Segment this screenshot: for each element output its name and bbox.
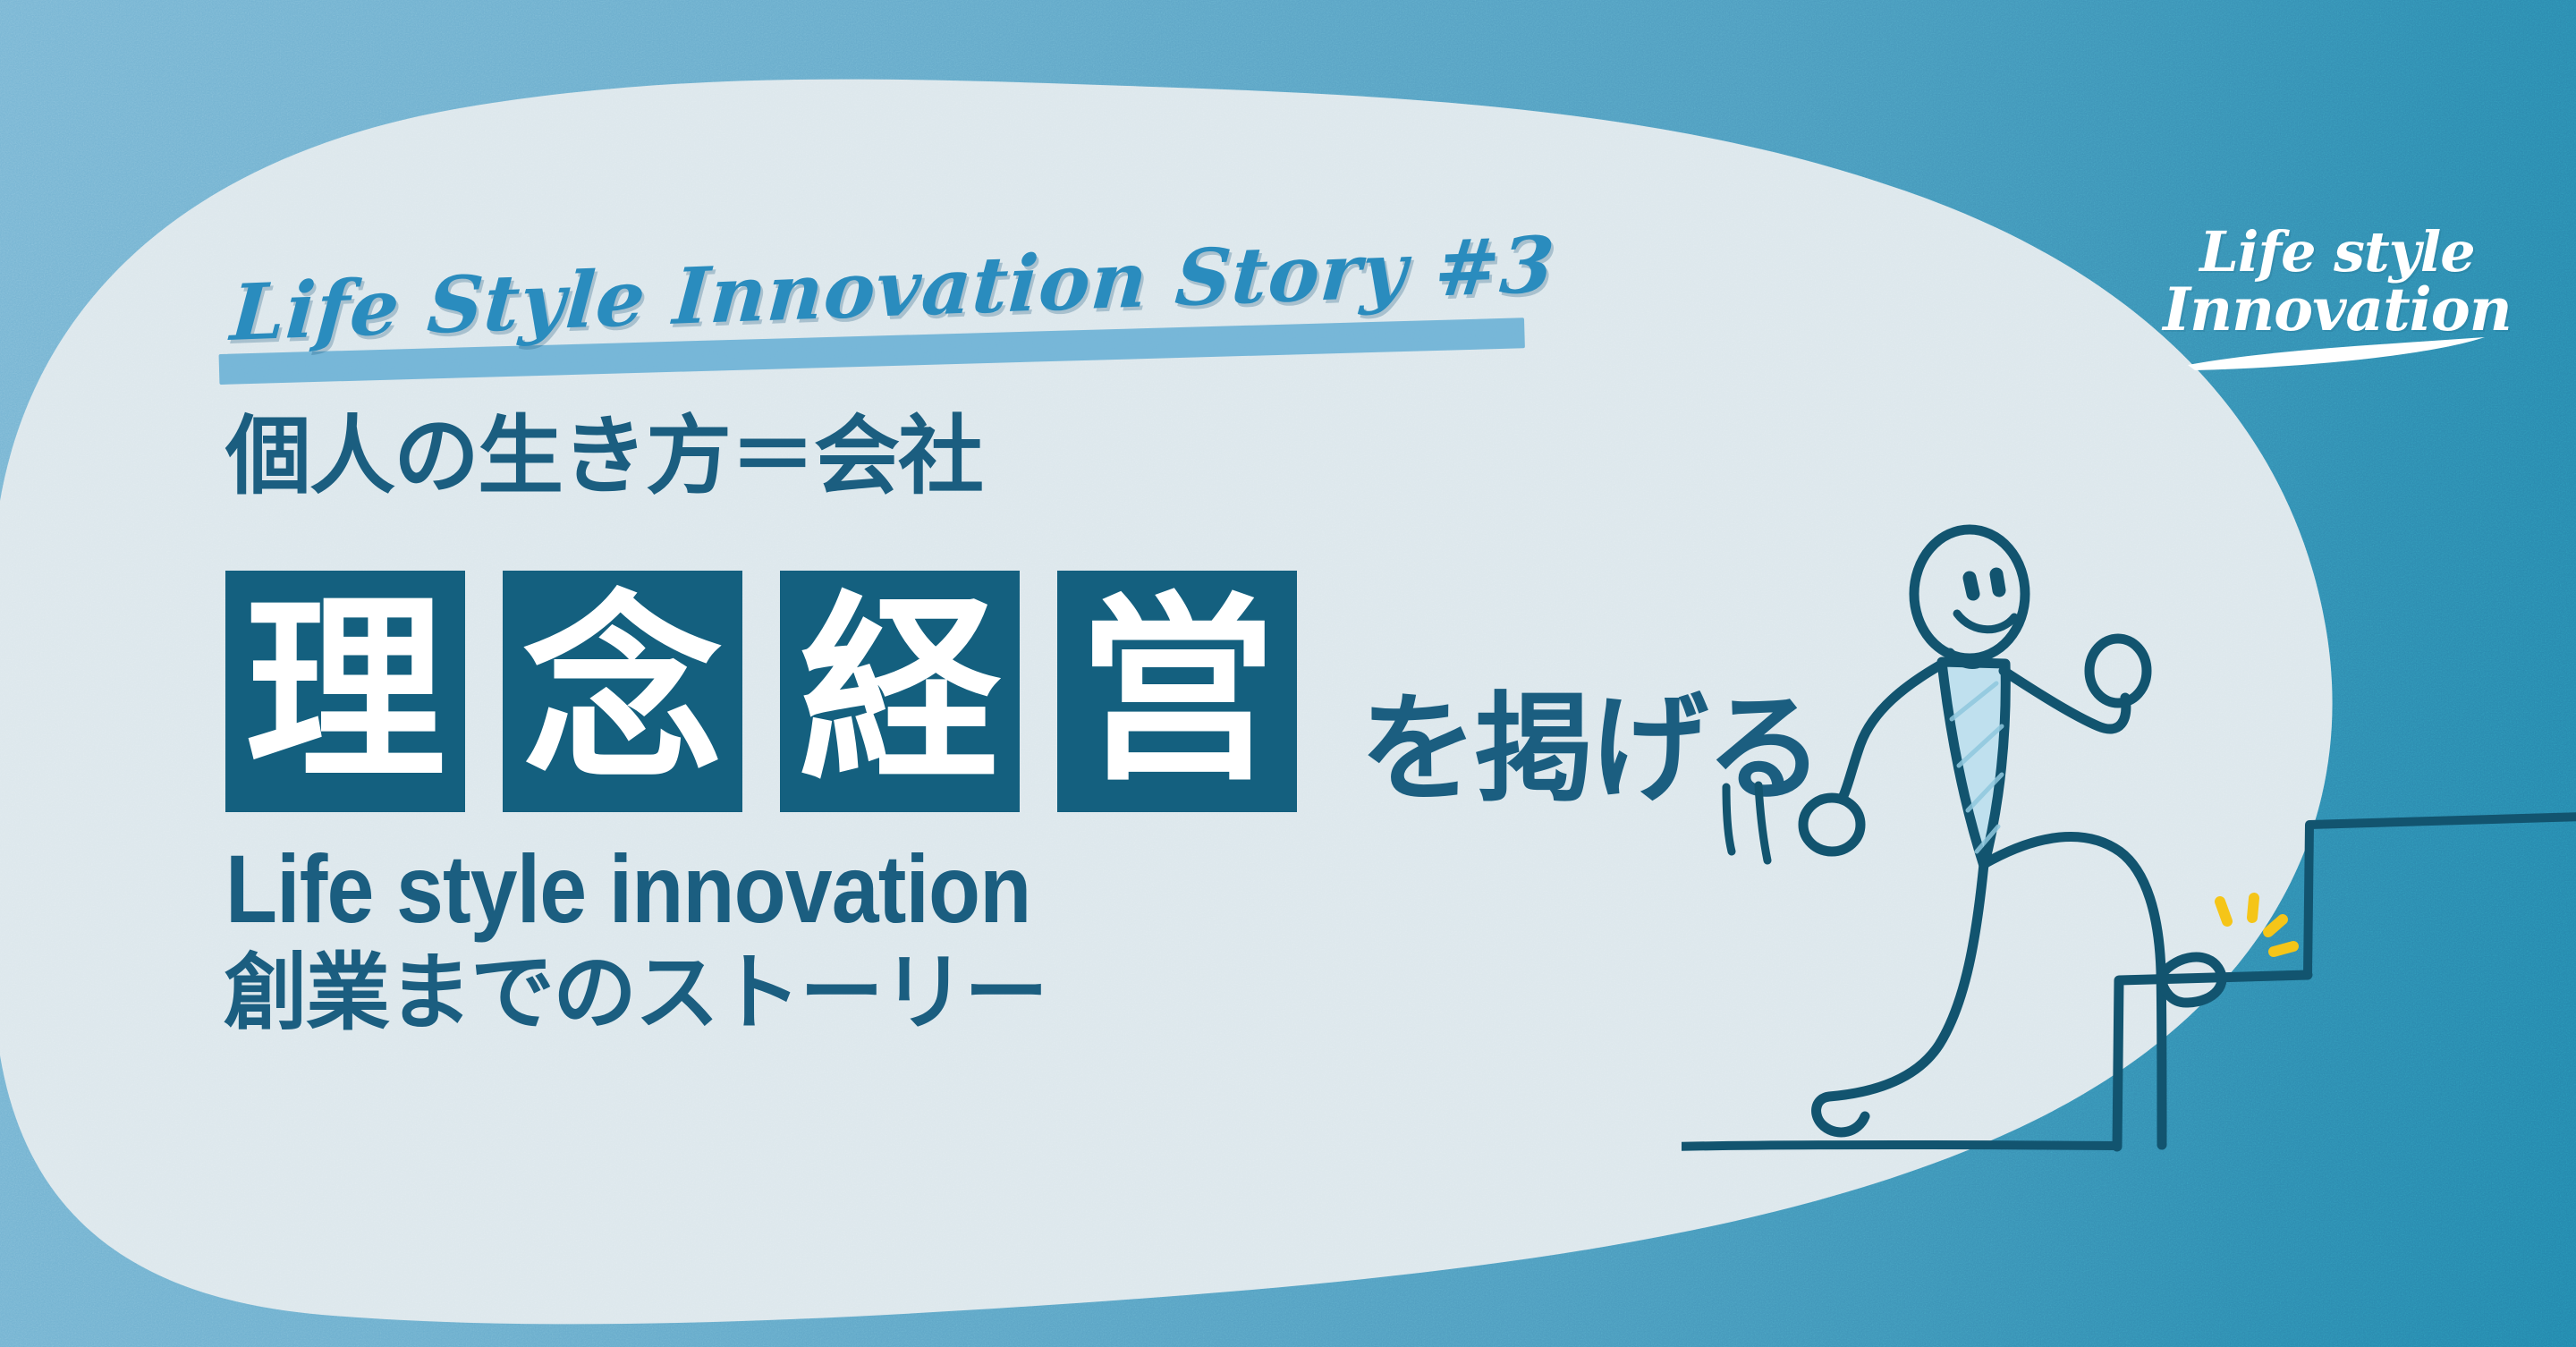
series-script-line: Life Style Innovation Story #3 bbox=[228, 268, 1570, 402]
torso bbox=[1942, 662, 2005, 866]
back-leg bbox=[1817, 864, 1984, 1132]
kanji-box-4: 営 bbox=[1057, 571, 1297, 812]
spark-2 bbox=[2252, 898, 2254, 918]
back-arm bbox=[1843, 664, 1943, 798]
smile bbox=[1957, 614, 2014, 630]
eye-right bbox=[1996, 574, 1999, 590]
tagline: 創業までのストーリー bbox=[224, 952, 1046, 1036]
motion-line-2 bbox=[1758, 785, 1767, 860]
boxed-kanji-row: 理 念 経 営 を掲げる bbox=[225, 571, 1821, 812]
logo-line-2: Innovation bbox=[2163, 280, 2512, 339]
spark-4 bbox=[2274, 946, 2293, 952]
back-fist bbox=[1803, 798, 1860, 851]
ground-line bbox=[1682, 1145, 2116, 1147]
hero-banner: Life Style Innovation Story #3 個人の生き方＝会社… bbox=[0, 0, 2576, 1347]
stair-step-2 bbox=[2308, 817, 2576, 975]
motion-line-1 bbox=[1726, 787, 1732, 851]
front-leg bbox=[1984, 836, 2162, 1145]
brand-line: Life style innovation bbox=[225, 841, 1030, 937]
headline-subtitle: 個人の生き方＝会社 bbox=[225, 413, 982, 499]
kanji-box-2: 念 bbox=[503, 571, 742, 812]
headline-block: Life Style Innovation Story #3 個人の生き方＝会社… bbox=[0, 0, 1699, 1347]
spark-3 bbox=[2268, 919, 2283, 932]
logo-swash-icon bbox=[2163, 335, 2512, 371]
impact-sparks bbox=[2220, 898, 2293, 952]
front-fist bbox=[2089, 639, 2147, 703]
spark-1 bbox=[2220, 902, 2227, 921]
eye-left bbox=[1970, 578, 1973, 594]
stick-figure-illustration bbox=[1682, 519, 2576, 1216]
logo-line-1: Life style bbox=[2163, 225, 2512, 280]
kanji-box-1: 理 bbox=[225, 571, 465, 812]
kanji-box-3: 経 bbox=[780, 571, 1020, 812]
logo: Life style Innovation bbox=[2163, 225, 2512, 375]
